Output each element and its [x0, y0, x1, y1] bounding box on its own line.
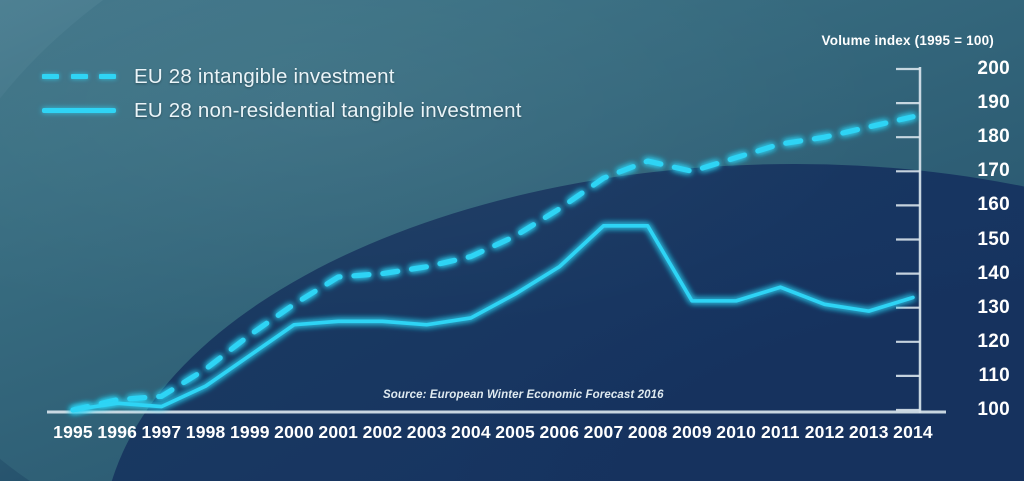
x-tick-label: 2009	[672, 422, 712, 443]
plot-area: 100110120130140150160170180190200 199519…	[0, 0, 1024, 481]
x-tick-label: 2014	[893, 422, 933, 443]
x-tick-label: 2002	[363, 422, 403, 443]
x-tick-label: 1996	[97, 422, 137, 443]
x-tick-label: 2008	[628, 422, 668, 443]
x-tick-label: 2005	[495, 422, 535, 443]
x-tick-label: 1998	[186, 422, 226, 443]
x-tick-label: 2004	[451, 422, 491, 443]
x-tick-label: 2007	[584, 422, 624, 443]
x-tick-label: 1997	[142, 422, 182, 443]
x-tick-label: 2013	[849, 422, 889, 443]
x-tick-label: 2012	[805, 422, 845, 443]
x-axis-tick-labels: 1995199619971998199920002001200220032004…	[0, 0, 1024, 481]
x-tick-label: 2010	[716, 422, 756, 443]
x-tick-label: 1995	[53, 422, 93, 443]
chart-figure: Volume index (1995 = 100) EU 28 intangib…	[0, 0, 1024, 481]
x-tick-label: 1999	[230, 422, 270, 443]
x-tick-label: 2006	[539, 422, 579, 443]
x-tick-label: 2011	[761, 422, 800, 443]
source-note: Source: European Winter Economic Forecas…	[383, 389, 664, 401]
x-tick-label: 2003	[407, 422, 447, 443]
x-tick-label: 2000	[274, 422, 314, 443]
x-tick-label: 2001	[318, 422, 358, 443]
